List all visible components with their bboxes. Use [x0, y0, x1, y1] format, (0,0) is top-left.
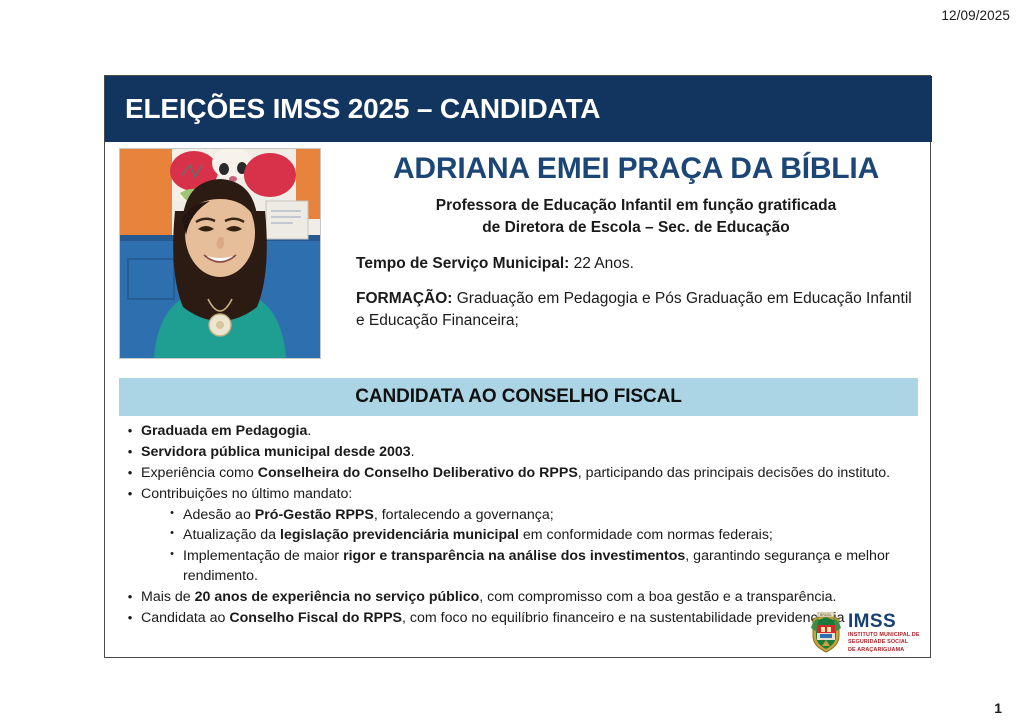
- fiscal-council-banner-text: CANDIDATA AO CONSELHO FISCAL: [355, 386, 682, 408]
- imss-logo-text: IMSS INSTITUTO MUNICIPAL DE SEGURIDADE S…: [848, 612, 920, 653]
- slide-frame: ELEIÇÕES IMSS 2025 – CANDIDATA: [104, 75, 931, 658]
- bullet-text: Implementação de maior rigor e transparê…: [183, 547, 919, 587]
- bullet-text-strong: legislação previdenciária municipal: [280, 527, 519, 543]
- bullet-text-strong: rigor e transparência na análise dos inv…: [343, 548, 685, 564]
- bullet-item: •Experiência como Conselheira do Conselh…: [119, 464, 919, 484]
- imss-subtitle: INSTITUTO MUNICIPAL DE SEGURIDADE SOCIAL…: [848, 632, 920, 653]
- bullet-text: Experiência como Conselheira do Conselho…: [141, 464, 919, 484]
- bullet-text: Contribuições no último mandato:: [141, 485, 919, 505]
- bullet-text-run: , com compromisso com a boa gestão e a t…: [479, 589, 836, 605]
- bullet-text-run: , com foco no equilíbrio financeiro e na…: [402, 610, 844, 626]
- bullet-glyph-icon: •: [119, 464, 141, 483]
- bullet-text-strong: Conselho Fiscal do RPPS: [229, 610, 402, 626]
- bullet-glyph-icon: •: [119, 609, 141, 628]
- bullet-item: •Candidata ao Conselho Fiscal do RPPS, c…: [119, 609, 919, 629]
- bullet-text-run: Adesão ao: [183, 507, 255, 523]
- bullet-glyph-icon: •: [161, 526, 183, 542]
- bullet-glyph-icon: •: [119, 485, 141, 504]
- bullet-sub-item: •Adesão ao Pró-Gestão RPPS, fortalecendo…: [119, 506, 919, 526]
- page-date: 12/09/2025: [941, 8, 1010, 23]
- bullet-text: Adesão ao Pró-Gestão RPPS, fortalecendo …: [183, 506, 919, 526]
- imss-logo: BRASIL IMSS INSTITUTO MUNICIPAL DE SEGUR…: [808, 611, 926, 655]
- candidate-role-line-1: Professora de Educação Infantil em funçã…: [351, 195, 921, 217]
- bullet-text-strong: Pró-Gestão RPPS: [255, 507, 374, 523]
- bullet-text: Candidata ao Conselho Fiscal do RPPS, co…: [141, 609, 919, 629]
- bullet-text-run: .: [411, 444, 415, 460]
- bullet-glyph-icon: •: [119, 443, 141, 462]
- bullet-text-run: Implementação de maior: [183, 548, 343, 564]
- bullet-text-strong: 20 anos de experiência no serviço públic…: [195, 589, 480, 605]
- bullet-text-run: .: [307, 423, 311, 439]
- service-time-value: 22 Anos.: [569, 255, 634, 272]
- bullet-text: Graduada em Pedagogia.: [141, 422, 919, 442]
- bullet-glyph-icon: •: [119, 422, 141, 441]
- service-time-label: Tempo de Serviço Municipal:: [356, 255, 569, 272]
- bullet-text-run: Contribuições no último mandato:: [141, 486, 352, 502]
- coat-of-arms-crest-icon: BRASIL: [808, 612, 844, 654]
- candidate-name: ADRIANA EMEI PRAÇA DA BÍBLIA: [351, 152, 921, 185]
- bullet-sub-item: •Implementação de maior rigor e transpar…: [119, 547, 919, 587]
- bullet-glyph-icon: •: [161, 547, 183, 563]
- imss-subtitle-line-2: SEGURIDADE SOCIAL: [848, 639, 920, 646]
- bullet-text-run: em conformidade com normas federais;: [519, 527, 773, 543]
- bullet-glyph-icon: •: [161, 506, 183, 522]
- bullet-item: •Servidora pública municipal desde 2003.: [119, 443, 919, 463]
- page-number: 1: [994, 700, 1002, 716]
- bullet-item: •Graduada em Pedagogia.: [119, 422, 919, 442]
- bullet-text: Mais de 20 anos de experiência no serviç…: [141, 588, 919, 608]
- candidate-info: ADRIANA EMEI PRAÇA DA BÍBLIA Professora …: [351, 152, 921, 332]
- bullet-text-strong: Servidora pública municipal desde 2003: [141, 444, 411, 460]
- slide-header-title: ELEIÇÕES IMSS 2025 – CANDIDATA: [125, 93, 600, 125]
- bullet-text: Atualização da legislação previdenciária…: [183, 526, 919, 546]
- imss-acronym: IMSS: [848, 612, 920, 631]
- bullet-text-run: Candidata ao: [141, 610, 229, 626]
- bullet-text-run: Experiência como: [141, 465, 258, 481]
- bullet-text-run: Mais de: [141, 589, 195, 605]
- bullet-text-strong: Conselheira do Conselho Deliberativo do …: [258, 465, 578, 481]
- education-line: FORMAÇÃO: Graduação em Pedagogia e Pós G…: [351, 288, 921, 332]
- candidate-photo: [119, 148, 321, 359]
- slide-header-banner: ELEIÇÕES IMSS 2025 – CANDIDATA: [105, 76, 932, 142]
- service-time-line: Tempo de Serviço Municipal: 22 Anos.: [351, 253, 921, 275]
- bullet-sub-item: •Atualização da legislação previdenciári…: [119, 526, 919, 546]
- education-label: FORMAÇÃO:: [356, 290, 452, 307]
- slide-body: ADRIANA EMEI PRAÇA DA BÍBLIA Professora …: [105, 142, 932, 659]
- bullet-text-run: , fortalecendo a governança;: [374, 507, 554, 523]
- bullet-glyph-icon: •: [119, 588, 141, 607]
- bullet-item: •Mais de 20 anos de experiência no servi…: [119, 588, 919, 608]
- candidate-role-line-2: de Diretora de Escola – Sec. de Educação: [351, 217, 921, 239]
- svg-text:BRASIL: BRASIL: [820, 613, 832, 617]
- fiscal-council-banner: CANDIDATA AO CONSELHO FISCAL: [119, 378, 918, 416]
- bullet-list: •Graduada em Pedagogia.•Servidora públic…: [119, 422, 919, 630]
- bullet-text-strong: Graduada em Pedagogia: [141, 423, 307, 439]
- imss-subtitle-line-1: INSTITUTO MUNICIPAL DE: [848, 632, 920, 639]
- imss-subtitle-line-3: DE ARAÇARIGUAMA: [848, 647, 920, 654]
- bullet-text-run: , participando das principais decisões d…: [578, 465, 890, 481]
- candidate-role: Professora de Educação Infantil em funçã…: [351, 195, 921, 240]
- bullet-item: •Contribuições no último mandato:: [119, 485, 919, 505]
- bullet-text: Servidora pública municipal desde 2003.: [141, 443, 919, 463]
- candidate-photo-image: [120, 149, 320, 358]
- bullet-text-run: Atualização da: [183, 527, 280, 543]
